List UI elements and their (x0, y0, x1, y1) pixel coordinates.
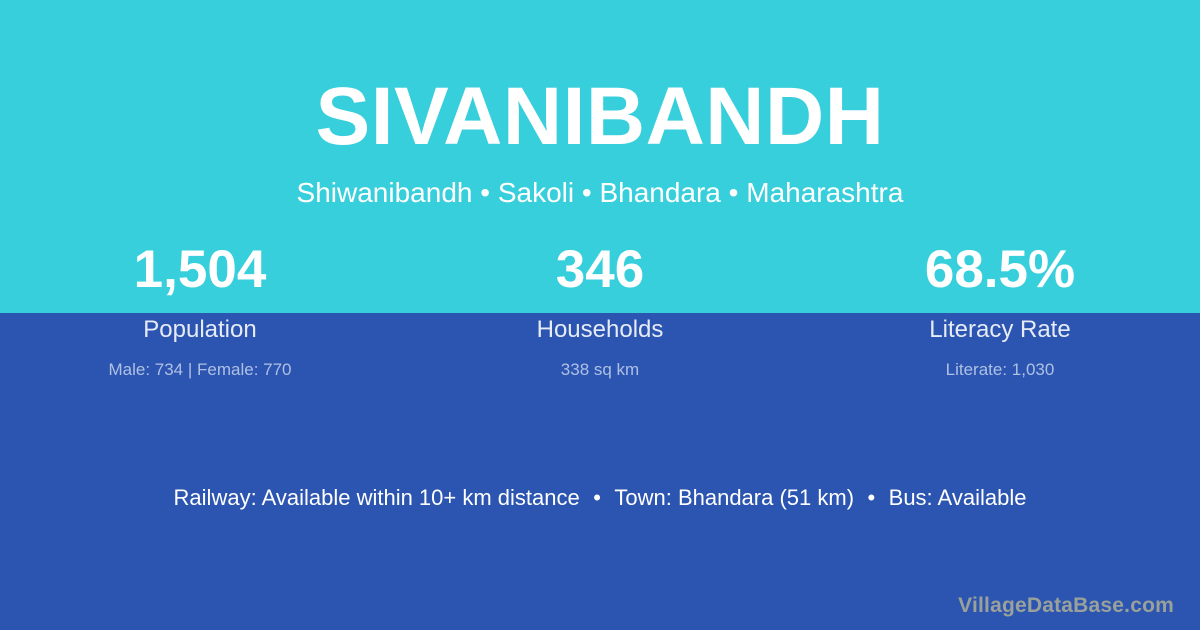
fact-bus: Bus: Available (889, 485, 1027, 510)
breadcrumb: Shiwanibandh • Sakoli • Bhandara • Mahar… (0, 158, 1200, 207)
stat-literacy-count: Literate: 1,030 (800, 361, 1200, 378)
stat-population-breakdown: Male: 734 | Female: 770 (0, 361, 400, 378)
stat-literacy-label: Literacy Rate (800, 318, 1200, 342)
fact-town: Town: Bhandara (51 km) (614, 485, 854, 510)
fact-separator-icon: • (858, 485, 884, 510)
village-info-card: SIVANIBANDH Shiwanibandh • Sakoli • Bhan… (0, 0, 1200, 630)
amenities-summary: Railway: Available within 10+ km distanc… (0, 487, 1200, 510)
page-title: SIVANIBANDH (0, 0, 1200, 158)
fact-separator-icon: • (584, 485, 610, 510)
fact-railway: Railway: Available within 10+ km distanc… (174, 485, 580, 510)
stat-population: 1,504 Population Male: 734 | Female: 770 (0, 243, 400, 378)
stat-population-value: 1,504 (0, 243, 400, 303)
stat-households-area: 338 sq km (400, 361, 800, 378)
stat-households-label: Households (400, 318, 800, 342)
stat-literacy-value: 68.5% (800, 243, 1200, 303)
stats-row: 1,504 Population Male: 734 | Female: 770… (0, 243, 1200, 378)
stat-households-value: 346 (400, 243, 800, 303)
stat-literacy: 68.5% Literacy Rate Literate: 1,030 (800, 243, 1200, 378)
card-header: SIVANIBANDH Shiwanibandh • Sakoli • Bhan… (0, 0, 1200, 207)
stat-population-label: Population (0, 318, 400, 342)
stat-households: 346 Households 338 sq km (400, 243, 800, 378)
site-branding: VillageDataBase.com (958, 595, 1174, 616)
